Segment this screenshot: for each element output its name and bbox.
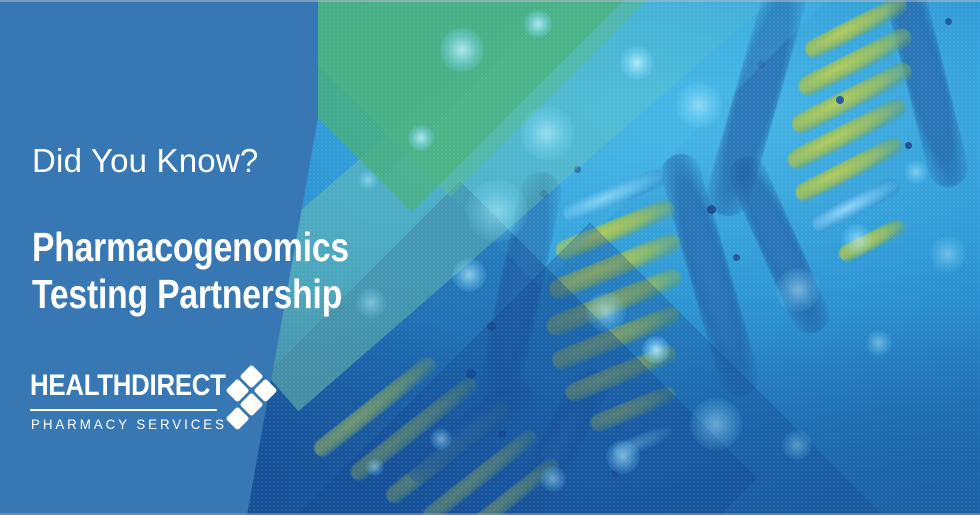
headline-line-1: Pharmacogenomics [32,224,349,271]
logo-divider [30,409,217,411]
pharmacogenomics-banner: Did You Know? Pharmacogenomics Testing P… [0,0,980,515]
page-title: Pharmacogenomics Testing Partnership [32,224,349,318]
headline-line-2: Testing Partnership [32,271,349,318]
logo-wordmark: HEALTHDIRECT [30,370,230,402]
diamond-cluster-icon [221,366,273,428]
healthdirect-logo: HEALTHDIRECT PHARMACY SERVICES [30,370,262,436]
logo-tagline: PHARMACY SERVICES [31,415,227,433]
kicker-text: Did You Know? [32,144,258,177]
top-seam-line [0,0,980,2]
